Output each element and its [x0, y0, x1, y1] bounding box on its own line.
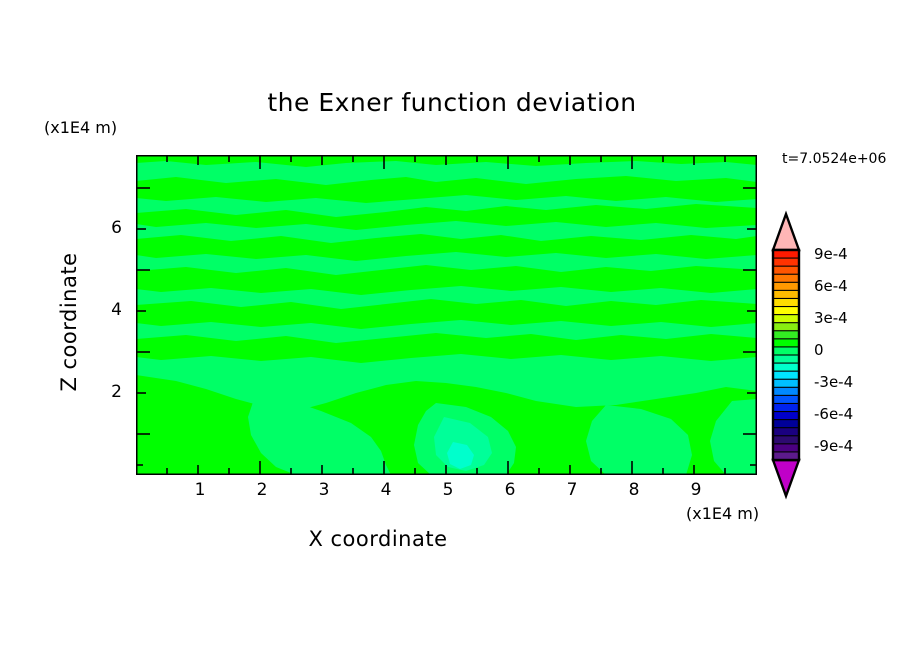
colorbar-band — [773, 428, 799, 437]
x-tick-label: 2 — [242, 480, 282, 500]
y-tick-label: 2 — [86, 382, 122, 402]
colorbar-band — [773, 412, 799, 421]
x-axis-title: X coordinate — [0, 527, 756, 551]
colorbar-tick-label: 6e-4 — [814, 277, 848, 295]
colorbar-band — [773, 331, 799, 340]
colorbar-band — [773, 258, 799, 267]
y-tick-label: 6 — [86, 218, 122, 238]
colorbar-band — [773, 347, 799, 356]
colorbar-tick-label: -3e-4 — [814, 373, 853, 391]
colorbar-band — [773, 266, 799, 275]
colorbar-over-arrow — [773, 214, 799, 250]
colorbar-svg — [770, 190, 814, 520]
colorbar — [770, 190, 814, 520]
colorbar-band — [773, 323, 799, 332]
colorbar-band — [773, 436, 799, 445]
time-annotation: t=7.0524e+06 — [782, 151, 886, 167]
colorbar-band — [773, 395, 799, 404]
colorbar-band — [773, 315, 799, 324]
x-tick-label: 6 — [490, 480, 530, 500]
colorbar-band — [773, 290, 799, 299]
y-axis-unit-label: (x1E4 m) — [44, 118, 117, 137]
x-axis-unit-label: (x1E4 m) — [686, 504, 759, 523]
x-tick-label: 1 — [180, 480, 220, 500]
colorbar-band — [773, 307, 799, 316]
colorbar-tick-label: 0 — [814, 341, 824, 359]
colorbar-band — [773, 282, 799, 291]
x-tick-label: 3 — [304, 480, 344, 500]
colorbar-tick-label: 9e-4 — [814, 245, 848, 263]
chart-title: the Exner function deviation — [0, 88, 904, 117]
y-axis-title: Z coordinate — [57, 207, 81, 437]
x-tick-label: 5 — [428, 480, 468, 500]
colorbar-band — [773, 298, 799, 307]
y-tick-label: 4 — [86, 300, 122, 320]
colorbar-tick-label: 3e-4 — [814, 309, 848, 327]
contour-svg — [136, 155, 757, 475]
colorbar-band — [773, 379, 799, 388]
colorbar-band — [773, 403, 799, 412]
colorbar-band — [773, 250, 799, 259]
colorbar-band — [773, 444, 799, 453]
x-tick-label: 9 — [676, 480, 716, 500]
x-tick-label: 4 — [366, 480, 406, 500]
colorbar-tick-label: -6e-4 — [814, 405, 853, 423]
colorbar-band — [773, 420, 799, 429]
colorbar-band — [773, 371, 799, 380]
x-tick-label: 8 — [614, 480, 654, 500]
colorbar-band — [773, 355, 799, 364]
colorbar-under-arrow — [773, 460, 799, 496]
colorbar-tick-label: -9e-4 — [814, 437, 853, 455]
colorbar-band — [773, 387, 799, 396]
figure-canvas: the Exner function deviation (x1E4 m) t=… — [0, 0, 904, 654]
contour-plot-area — [136, 155, 757, 475]
x-tick-label: 7 — [552, 480, 592, 500]
colorbar-band — [773, 274, 799, 283]
colorbar-bands — [773, 250, 799, 461]
colorbar-band — [773, 339, 799, 348]
colorbar-band — [773, 363, 799, 372]
